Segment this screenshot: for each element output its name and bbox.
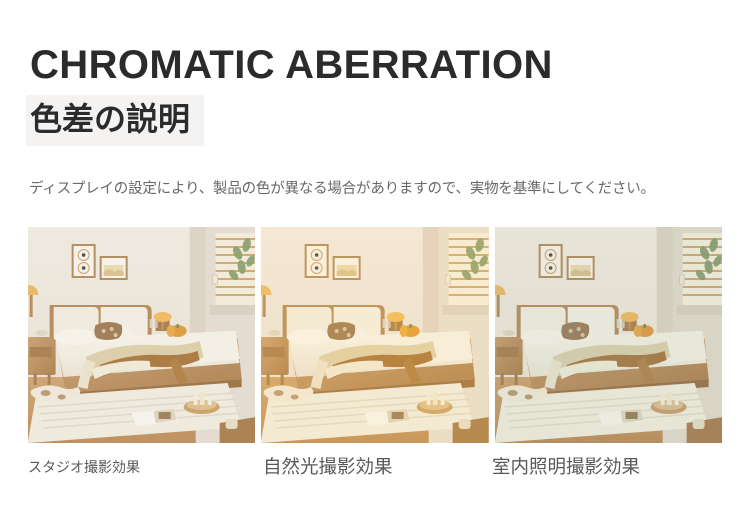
caption-studio: スタジオ撮影効果 — [28, 455, 140, 481]
page-title-japanese: 色差の説明 — [30, 100, 194, 138]
color-disclaimer-text: ディスプレイの設定により、製品の色が異なる場合がありますので、実物を基準にしてく… — [29, 178, 729, 200]
photo-card-studio[interactable] — [28, 227, 255, 443]
product-detail-page: CHROMATIC ABERRATION 色差の説明 ディスプレイの設定により、… — [0, 0, 750, 526]
caption-indoor: 室内照明撮影効果 — [492, 455, 640, 481]
bedroom-scene-indoor — [495, 227, 722, 443]
photo-gallery — [28, 227, 722, 443]
caption-daylight: 自然光撮影効果 — [263, 455, 393, 481]
photo-card-daylight[interactable] — [261, 227, 488, 443]
page-subtitle-wrap: 色差の説明 — [30, 97, 194, 141]
page-title-english: CHROMATIC ABERRATION — [30, 42, 730, 88]
photo-card-indoor[interactable] — [495, 227, 722, 443]
bedroom-scene-daylight — [261, 227, 488, 443]
photo-captions: スタジオ撮影効果 自然光撮影効果 室内照明撮影効果 — [28, 455, 722, 485]
heading-block: CHROMATIC ABERRATION 色差の説明 — [30, 42, 730, 141]
bedroom-scene-studio — [28, 227, 255, 443]
